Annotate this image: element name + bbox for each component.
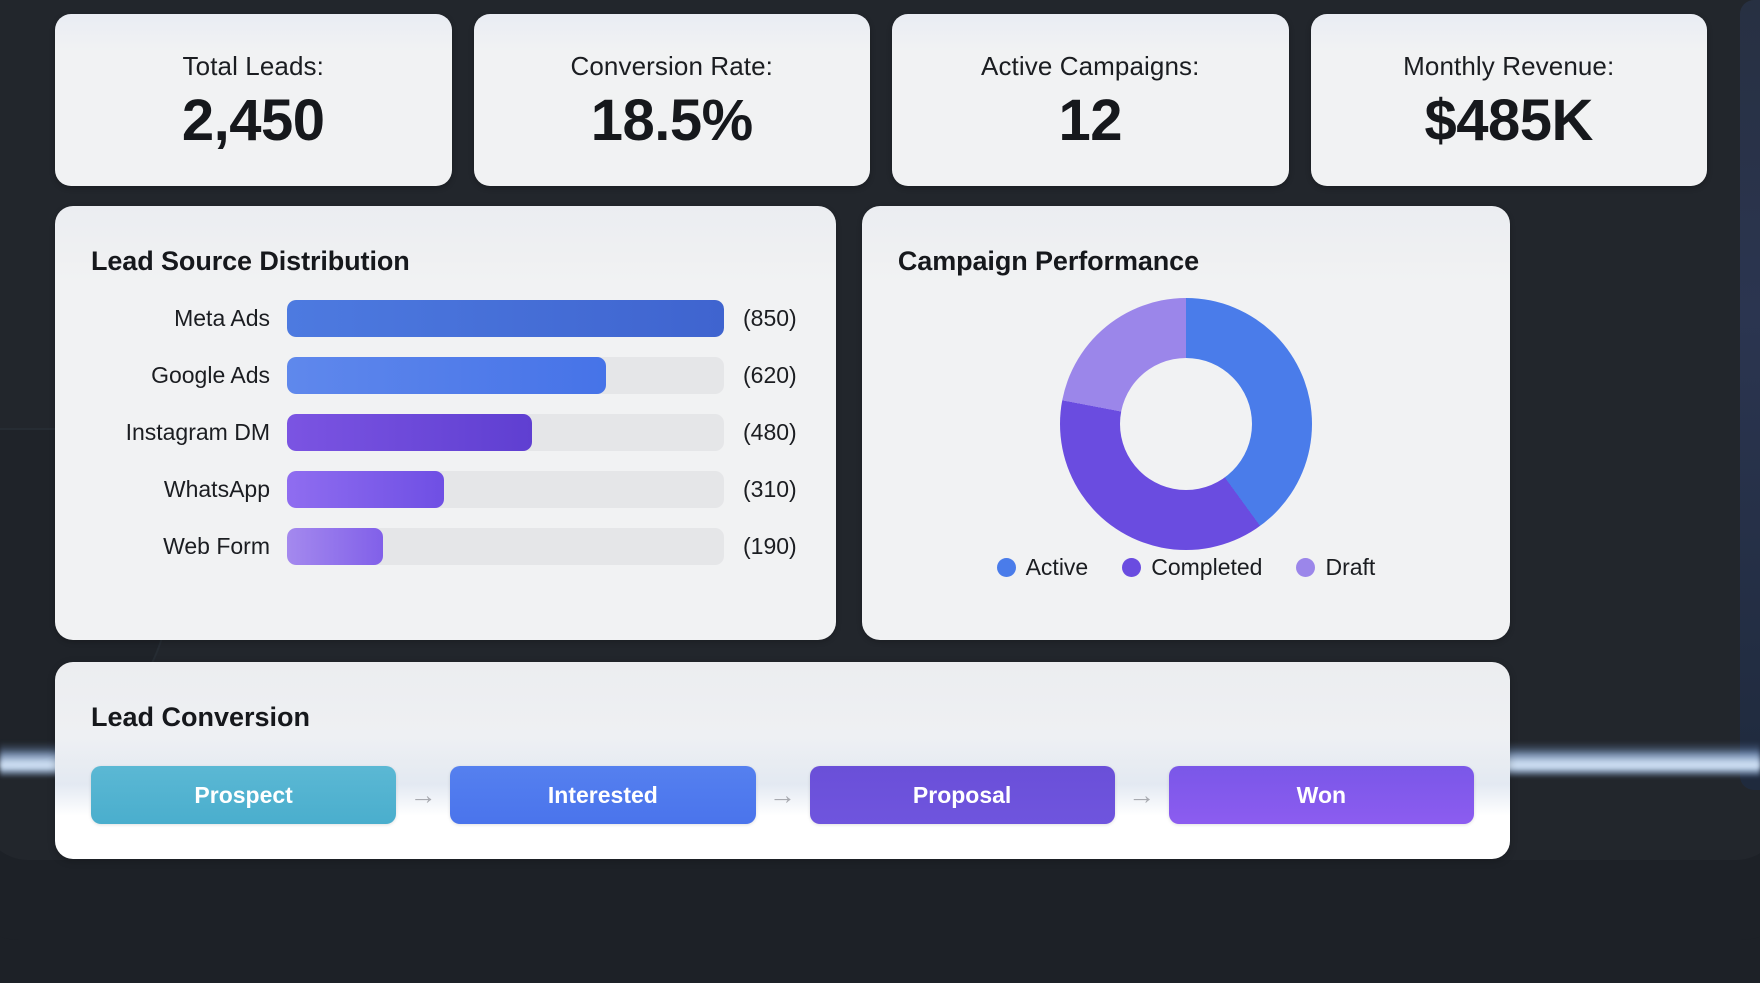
stat-card-label: Conversion Rate: (571, 51, 773, 82)
pipeline-stage-label: Won (1297, 782, 1346, 809)
lead-conversion-title: Lead Conversion (91, 702, 310, 733)
pipeline-stage-label: Prospect (194, 782, 292, 809)
lead-source-bar-track (287, 528, 724, 565)
pipeline-arrow-icon: → (396, 782, 450, 809)
lead-source-value: (190) (724, 533, 797, 560)
lead-source-bar-fill (287, 300, 724, 337)
lead-source-value: (480) (724, 419, 797, 446)
donut-chart (1060, 298, 1312, 550)
pipeline-stage-interested[interactable]: Interested (450, 766, 755, 824)
lead-source-panel: Lead Source Distribution Meta Ads(850)Go… (55, 206, 836, 640)
lead-source-row: Web Form(190) (91, 528, 806, 565)
lead-source-row: Instagram DM(480) (91, 414, 806, 451)
pipeline-arrow-icon: → (1115, 782, 1169, 809)
legend-label: Completed (1151, 554, 1262, 581)
donut-chart-wrap (862, 298, 1510, 550)
legend-dot-icon (997, 558, 1016, 577)
lead-source-bar-fill (287, 357, 606, 394)
lead-source-label: Instagram DM (91, 419, 287, 446)
stat-cards-row: Total Leads: 2,450 Conversion Rate: 18.5… (55, 14, 1707, 186)
stat-card-total-leads: Total Leads: 2,450 (55, 14, 452, 186)
lead-source-bar-fill (287, 471, 444, 508)
lead-source-label: WhatsApp (91, 476, 287, 503)
pipeline-arrow-icon: → (756, 782, 810, 809)
stat-card-value: 12 (1058, 92, 1122, 150)
legend-item[interactable]: Draft (1296, 554, 1375, 581)
lead-source-title: Lead Source Distribution (91, 246, 410, 277)
stat-card-active-campaigns: Active Campaigns: 12 (892, 14, 1289, 186)
campaign-performance-panel: Campaign Performance ActiveCompletedDraf… (862, 206, 1510, 640)
lead-source-row: Meta Ads(850) (91, 300, 806, 337)
lead-source-bar-track (287, 471, 724, 508)
lead-source-value: (310) (724, 476, 797, 503)
lead-source-bar-fill (287, 414, 532, 451)
lead-source-value: (850) (724, 305, 797, 332)
pipeline-stage-label: Proposal (913, 782, 1011, 809)
lead-source-value: (620) (724, 362, 797, 389)
lead-source-label: Google Ads (91, 362, 287, 389)
middle-row: Lead Source Distribution Meta Ads(850)Go… (55, 206, 1510, 640)
lead-source-bar-track (287, 414, 724, 451)
stat-card-label: Monthly Revenue: (1403, 51, 1614, 82)
legend-item[interactable]: Active (997, 554, 1089, 581)
dashboard-root: Total Leads: 2,450 Conversion Rate: 18.5… (0, 0, 1760, 983)
stat-card-value: 2,450 (182, 92, 325, 150)
legend-label: Active (1026, 554, 1089, 581)
conversion-pipeline: Prospect→Interested→Proposal→Won (91, 766, 1474, 824)
lead-source-label: Meta Ads (91, 305, 287, 332)
lead-source-bar-track (287, 300, 724, 337)
stat-card-label: Total Leads: (183, 51, 324, 82)
pipeline-stage-won[interactable]: Won (1169, 766, 1474, 824)
legend-dot-icon (1296, 558, 1315, 577)
pipeline-stage-proposal[interactable]: Proposal (810, 766, 1115, 824)
legend-dot-icon (1122, 558, 1141, 577)
stat-card-value: 18.5% (591, 92, 753, 150)
lead-source-label: Web Form (91, 533, 287, 560)
lead-source-bar-fill (287, 528, 383, 565)
background-right-edge (1740, 0, 1760, 790)
campaign-performance-title: Campaign Performance (898, 246, 1199, 277)
donut-legend: ActiveCompletedDraft (862, 554, 1510, 581)
legend-label: Draft (1325, 554, 1375, 581)
donut-hole (1120, 358, 1252, 490)
stat-card-value: $485K (1425, 92, 1593, 150)
pipeline-stage-prospect[interactable]: Prospect (91, 766, 396, 824)
stat-card-label: Active Campaigns: (981, 51, 1199, 82)
pipeline-stage-label: Interested (548, 782, 658, 809)
lead-source-row: Google Ads(620) (91, 357, 806, 394)
lead-source-bar-list: Meta Ads(850)Google Ads(620)Instagram DM… (91, 300, 806, 565)
stat-card-conversion-rate: Conversion Rate: 18.5% (474, 14, 871, 186)
legend-item[interactable]: Completed (1122, 554, 1262, 581)
stat-card-monthly-revenue: Monthly Revenue: $485K (1311, 14, 1708, 186)
lead-source-row: WhatsApp(310) (91, 471, 806, 508)
lead-conversion-panel: Lead Conversion Prospect→Interested→Prop… (55, 662, 1510, 859)
lead-source-bar-track (287, 357, 724, 394)
